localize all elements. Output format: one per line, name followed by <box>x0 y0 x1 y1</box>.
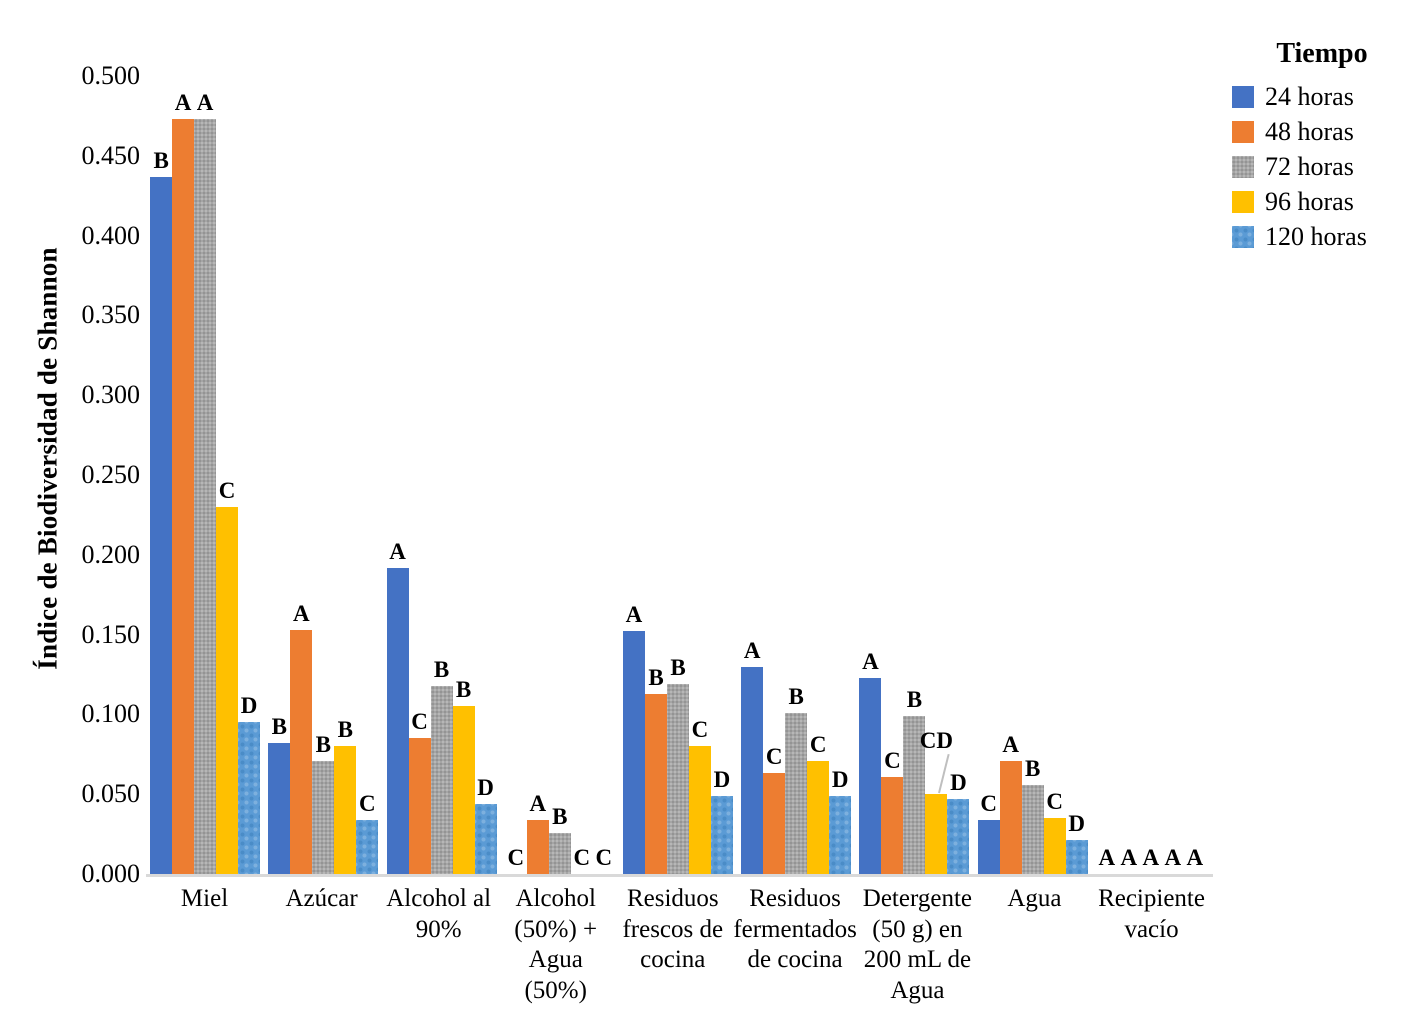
bar-group-bars: BABBC <box>264 76 382 874</box>
significance-label: A <box>744 639 761 662</box>
significance-label: B <box>907 688 922 711</box>
bar[interactable]: B <box>150 76 172 874</box>
bar-rect <box>356 820 378 874</box>
y-axis-tick-label: 0.350 <box>48 302 140 328</box>
significance-label: A <box>197 91 214 114</box>
bar[interactable]: B <box>312 76 334 874</box>
bar-rect <box>216 507 238 874</box>
significance-label: B <box>670 656 685 679</box>
bar[interactable]: C <box>881 76 903 874</box>
x-axis-tick-label: Agua <box>976 884 1093 1006</box>
bar-rect <box>1000 761 1022 874</box>
legend-swatch-icon <box>1232 86 1254 108</box>
bar[interactable]: C <box>571 76 593 874</box>
bar-group: ABBCD <box>619 76 737 874</box>
bar-groups: BAACDBABBCACBBDCABCCABBCDACBCDACBCDDCABC… <box>146 76 1210 874</box>
bar-group: CABCD <box>974 76 1092 874</box>
bar-rect <box>290 630 312 874</box>
bar[interactable]: A <box>1096 76 1118 874</box>
y-axis-tick-label: 0.100 <box>48 701 140 727</box>
significance-label: B <box>434 658 449 681</box>
legend-item[interactable]: 24 horas <box>1232 84 1412 110</box>
bar-group: BAACD <box>146 76 264 874</box>
significance-label: D <box>832 768 849 791</box>
significance-label: C <box>884 749 901 772</box>
y-axis-tick-label: 0.150 <box>48 622 140 648</box>
significance-label: C <box>980 792 997 815</box>
bar-group: BABBC <box>264 76 382 874</box>
bar[interactable]: A <box>1162 76 1184 874</box>
bar-rect <box>947 799 969 874</box>
significance-label: A <box>175 91 192 114</box>
bar[interactable]: C <box>505 76 527 874</box>
plot-area: BAACDBABBCACBBDCABCCABBCDACBCDACBCDDCABC… <box>146 76 1210 874</box>
significance-label: B <box>1025 757 1040 780</box>
significance-label: B <box>648 666 663 689</box>
significance-label: B <box>789 685 804 708</box>
significance-label: B <box>153 149 168 172</box>
bar-rect <box>689 746 711 874</box>
significance-label: C <box>810 733 827 756</box>
bar-rect <box>1066 840 1088 874</box>
bar-rect <box>409 738 431 874</box>
bar[interactable]: A <box>623 76 645 874</box>
significance-label: C <box>507 846 524 869</box>
significance-label: A <box>626 603 643 626</box>
bar-rect <box>312 761 334 874</box>
significance-label: C <box>359 792 376 815</box>
bar[interactable]: A <box>1184 76 1206 874</box>
bar-rect <box>859 678 881 874</box>
significance-label: A <box>529 792 546 815</box>
significance-label: A <box>862 650 879 673</box>
significance-label: A <box>1099 846 1116 869</box>
significance-label: D <box>1068 812 1085 835</box>
bar[interactable]: D <box>475 76 497 874</box>
bar-rect <box>334 746 356 874</box>
x-axis-tick-label: Detergente (50 g) en 200 mL de Agua <box>859 884 976 1006</box>
bar-rect <box>1044 818 1066 874</box>
bar[interactable]: C <box>356 76 378 874</box>
bar-rect <box>238 722 260 874</box>
y-axis-tick-label: 0.200 <box>48 542 140 568</box>
bar-group: CABCC <box>501 76 619 874</box>
bar-rect <box>194 119 216 874</box>
bar-group-bars: BAACD <box>146 76 264 874</box>
bar-rect <box>623 631 645 874</box>
significance-label: C <box>595 846 612 869</box>
legend: Tiempo 24 horas48 horas72 horas96 horas1… <box>1232 38 1412 259</box>
bar[interactable]: A <box>1140 76 1162 874</box>
bar[interactable]: B <box>785 76 807 874</box>
x-axis-tick-label: Miel <box>146 884 263 1006</box>
significance-label: C <box>411 710 428 733</box>
bar[interactable]: A <box>290 76 312 874</box>
y-axis-tick-label: 0.300 <box>48 382 140 408</box>
bar-rect <box>829 796 851 874</box>
bar-rect <box>741 667 763 874</box>
bar-rect <box>549 833 571 874</box>
bar-rect <box>881 777 903 874</box>
bar-rect <box>150 177 172 874</box>
significance-label: D <box>241 694 258 717</box>
legend-item[interactable]: 72 horas <box>1232 154 1412 180</box>
significance-label: A <box>1187 846 1204 869</box>
legend-label: 48 horas <box>1265 119 1354 145</box>
bar-group: ACBCD <box>737 76 855 874</box>
bar[interactable]: A <box>387 76 409 874</box>
legend-item[interactable]: 96 horas <box>1232 189 1412 215</box>
bar-rect <box>785 713 807 874</box>
bar-group: AAAAA <box>1092 76 1210 874</box>
x-axis-tick-label: Azúcar <box>263 884 380 1006</box>
significance-label: C <box>692 718 709 741</box>
x-axis-tick-label: Residuos fermentados de cocina <box>731 884 859 1006</box>
legend-swatch-icon <box>1232 226 1254 248</box>
bar[interactable]: C <box>689 76 711 874</box>
significance-label: D <box>950 771 967 794</box>
bar[interactable]: D <box>238 76 260 874</box>
significance-label: B <box>272 715 287 738</box>
bar-rect <box>978 820 1000 874</box>
x-axis-tick-label: Recipiente vacío <box>1093 884 1210 1006</box>
significance-label: D <box>477 776 494 799</box>
bar-rect <box>711 796 733 874</box>
significance-label: B <box>456 678 471 701</box>
bar-group-bars: CABCD <box>974 76 1092 874</box>
bar[interactable]: D <box>711 76 733 874</box>
bar[interactable]: A <box>194 76 216 874</box>
bar[interactable]: B <box>645 76 667 874</box>
significance-label: B <box>338 718 353 741</box>
bar[interactable]: C <box>807 76 829 874</box>
bar-rect <box>387 568 409 874</box>
bar-group: ACBBD <box>382 76 500 874</box>
legend-swatch-icon <box>1232 191 1254 213</box>
legend-swatch-icon <box>1232 156 1254 178</box>
significance-label: C <box>1046 790 1063 813</box>
bar-rect <box>172 119 194 874</box>
bar[interactable]: D <box>947 76 969 874</box>
bar[interactable]: A <box>1118 76 1140 874</box>
bar-rect <box>453 706 475 874</box>
bar[interactable]: C <box>409 76 431 874</box>
bar-rect <box>527 820 549 874</box>
bar[interactable]: C <box>763 76 785 874</box>
legend-item[interactable]: 48 horas <box>1232 119 1412 145</box>
significance-label: A <box>1143 846 1160 869</box>
significance-label: B <box>552 805 567 828</box>
bar[interactable]: B <box>453 76 475 874</box>
y-axis-tick-labels: 0.5000.4500.4000.3500.3000.2500.2000.150… <box>48 60 140 890</box>
bar-group-bars: ACBBD <box>382 76 500 874</box>
bar-group-bars: CABCC <box>501 76 619 874</box>
bar[interactable]: D <box>829 76 851 874</box>
bar-group-bars: ABBCD <box>619 76 737 874</box>
bar[interactable]: C <box>1044 76 1066 874</box>
bar-rect <box>645 694 667 874</box>
bar[interactable]: A <box>1000 76 1022 874</box>
significance-label: D <box>714 768 731 791</box>
bar[interactable]: C <box>216 76 238 874</box>
legend-label: 96 horas <box>1265 189 1354 215</box>
bar[interactable]: B <box>334 76 356 874</box>
bar[interactable]: B <box>431 76 453 874</box>
bar-group-bars: ACBCDD <box>855 76 973 874</box>
legend-label: 120 horas <box>1265 224 1367 250</box>
bar-rect <box>268 743 290 874</box>
bar-rect <box>763 773 785 874</box>
x-axis-tick-label: Alcohol (50%) + Agua (50%) <box>497 884 614 1006</box>
x-axis-tick-label: Alcohol al 90% <box>380 884 497 1006</box>
legend-items: 24 horas48 horas72 horas96 horas120 hora… <box>1232 84 1412 250</box>
bar[interactable]: C <box>978 76 1000 874</box>
chart-root: Índice de Biodiversidad de Shannon 0.500… <box>0 0 1421 1032</box>
y-axis-tick-label: 0.400 <box>48 223 140 249</box>
bar-group-bars: ACBCD <box>737 76 855 874</box>
significance-label: A <box>293 602 310 625</box>
bar[interactable]: D <box>1066 76 1088 874</box>
significance-label: B <box>316 733 331 756</box>
bar-group-bars: AAAAA <box>1092 76 1210 874</box>
bar-rect <box>807 761 829 874</box>
bar[interactable]: A <box>172 76 194 874</box>
significance-label: C <box>219 479 236 502</box>
legend-label: 24 horas <box>1265 84 1354 110</box>
significance-label: C <box>573 846 590 869</box>
legend-label: 72 horas <box>1265 154 1354 180</box>
bar[interactable]: B <box>1022 76 1044 874</box>
y-axis-tick-label: 0.250 <box>48 462 140 488</box>
significance-label: A <box>1121 846 1138 869</box>
significance-label: C <box>766 745 783 768</box>
bar-rect <box>475 804 497 874</box>
bar[interactable]: B <box>268 76 290 874</box>
legend-title: Tiempo <box>1232 38 1412 70</box>
bar[interactable]: B <box>903 76 925 874</box>
bar-rect <box>431 686 453 874</box>
y-axis-tick-label: 0.000 <box>48 861 140 887</box>
bar-group: ACBCDD <box>855 76 973 874</box>
x-axis-tick-label: Residuos frescos de cocina <box>614 884 731 1006</box>
bar[interactable]: C <box>593 76 615 874</box>
significance-label: A <box>1002 733 1019 756</box>
y-axis-tick-label: 0.450 <box>48 143 140 169</box>
x-axis-tick-labels: MielAzúcarAlcohol al 90%Alcohol (50%) + … <box>146 884 1210 1006</box>
y-axis-tick-label: 0.500 <box>48 63 140 89</box>
legend-swatch-icon <box>1232 121 1254 143</box>
bar-rect <box>667 684 689 874</box>
bar[interactable]: CD <box>925 76 947 874</box>
bar-rect <box>925 794 947 874</box>
x-axis-line <box>146 874 1213 877</box>
bar[interactable]: A <box>527 76 549 874</box>
bar[interactable]: A <box>741 76 763 874</box>
bar[interactable]: A <box>859 76 881 874</box>
bar-rect <box>1022 785 1044 874</box>
significance-label: A <box>389 540 406 563</box>
bar[interactable]: B <box>549 76 571 874</box>
bar[interactable]: B <box>667 76 689 874</box>
y-axis-tick-label: 0.050 <box>48 781 140 807</box>
significance-label: A <box>1165 846 1182 869</box>
legend-item[interactable]: 120 horas <box>1232 224 1412 250</box>
